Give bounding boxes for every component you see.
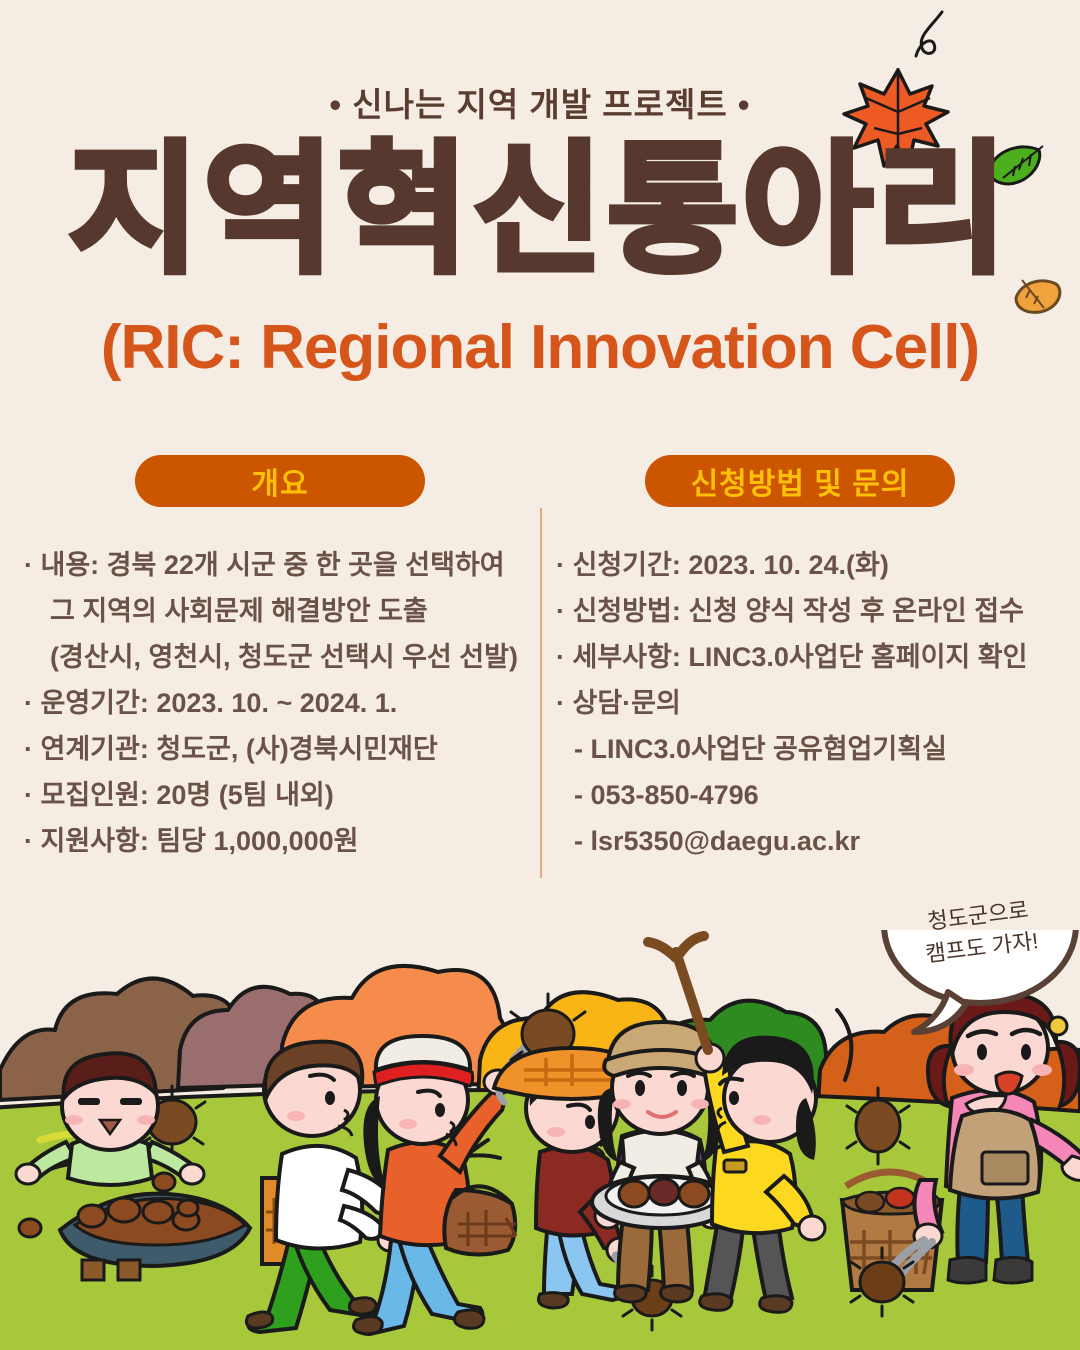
list-item: · 세부사항: LINC3.0사업단 홈페이지 확인	[556, 644, 1066, 671]
poster-root: • 신나는 지역 개발 프로젝트 • 지역혁신통아리 (RIC: Regiona…	[0, 0, 1080, 1350]
list-item: · 지원사항: 팀당 1,000,000원	[24, 828, 524, 855]
list-item: · 운영기간: 2023. 10. ~ 2024. 1.	[24, 690, 524, 717]
contact-phone: - 053-850-4796	[556, 782, 1066, 809]
eyebrow-text: • 신나는 지역 개발 프로젝트 •	[0, 78, 1080, 126]
overview-list: · 내용: 경북 22개 시군 중 한 곳을 선택하여 그 지역의 사회문제 해…	[24, 552, 524, 874]
page-subtitle: (RIC: Regional Innovation Cell)	[0, 312, 1080, 383]
list-item: · 연계기관: 청도군, (사)경북시민재단	[24, 736, 524, 763]
list-item: 그 지역의 사회문제 해결방안 도출	[24, 598, 524, 625]
section-heading-apply: 신청방법 및 문의	[645, 455, 955, 507]
column-divider	[540, 508, 542, 878]
list-item: · 신청방법: 신청 양식 작성 후 온라인 접수	[556, 598, 1066, 625]
list-item: - LINC3.0사업단 공유협업기획실	[556, 736, 1066, 763]
list-item: · 상담·문의	[556, 690, 1066, 717]
contact-email: - lsr5350@daegu.ac.kr	[556, 828, 1066, 855]
section-heading-apply-label: 신청방법 및 문의	[691, 459, 910, 503]
section-heading-overview-label: 개요	[251, 459, 308, 503]
illustration-autumn-harvest	[0, 930, 1080, 1350]
list-item: · 내용: 경북 22개 시군 중 한 곳을 선택하여	[24, 552, 524, 579]
list-item: (경산시, 영천시, 청도군 선택시 우선 선발)	[24, 644, 524, 671]
list-item: · 모집인원: 20명 (5팀 내외)	[24, 782, 524, 809]
section-heading-overview: 개요	[135, 455, 425, 507]
list-item: · 신청기간: 2023. 10. 24.(화)	[556, 552, 1066, 579]
apply-list: · 신청기간: 2023. 10. 24.(화) · 신청방법: 신청 양식 작…	[556, 552, 1066, 874]
page-title: 지역혁신통아리	[0, 140, 1080, 282]
